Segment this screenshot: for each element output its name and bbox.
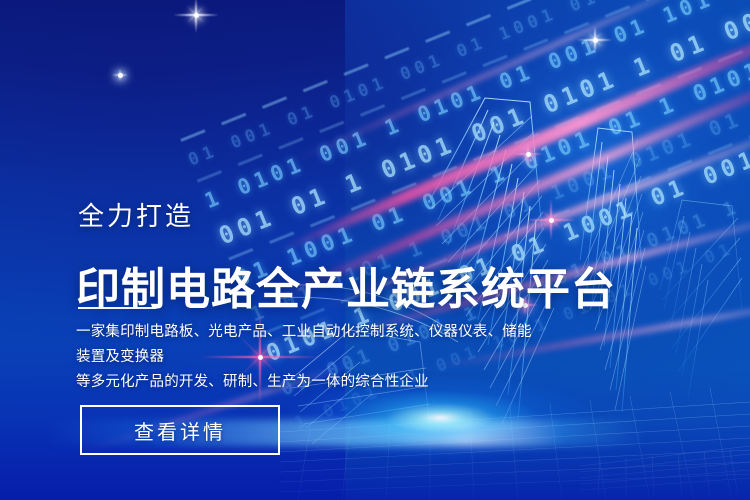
banner-description: 一家集印制电路板、光电产品、工业自动化控制系统、仪器仪表、储能装置及变换器 等多…	[76, 320, 546, 395]
divider-rule	[78, 307, 156, 309]
description-line-1: 一家集印制电路板、光电产品、工业自动化控制系统、仪器仪表、储能装置及变换器	[76, 320, 546, 370]
banner-headline: 印制电路全产业链系统平台	[76, 265, 616, 315]
hero-banner: 01 001 01 0101 001 01 1001 01 0 1 0101 0…	[0, 0, 750, 500]
banner-eyebrow: 全力打造	[78, 196, 194, 233]
view-details-button[interactable]: 查看详情	[80, 405, 280, 455]
description-line-2: 等多元化产品的开发、研制、生产为一体的综合性企业	[76, 370, 546, 395]
banner-content: 全力打造 印制电路全产业链系统平台 一家集印制电路板、光电产品、工业自动化控制系…	[0, 0, 750, 500]
